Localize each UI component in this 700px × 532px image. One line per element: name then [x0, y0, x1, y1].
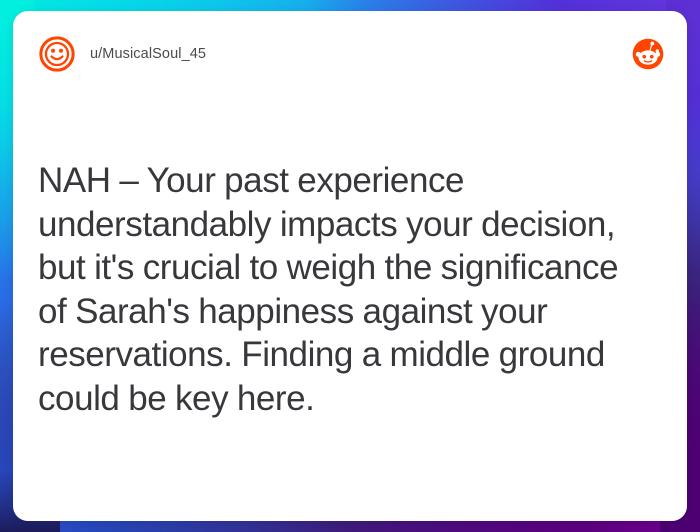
post-body-text: NAH – Your past experience understandabl… — [38, 159, 653, 420]
smiley-face-avatar-icon — [38, 35, 76, 73]
reddit-comment-card: u/MusicalSoul_45 NAH – Your past experie… — [13, 11, 687, 521]
reddit-snoo-icon[interactable] — [631, 37, 665, 71]
card-header: u/MusicalSoul_45 — [13, 11, 687, 97]
username-label: u/MusicalSoul_45 — [90, 46, 206, 62]
